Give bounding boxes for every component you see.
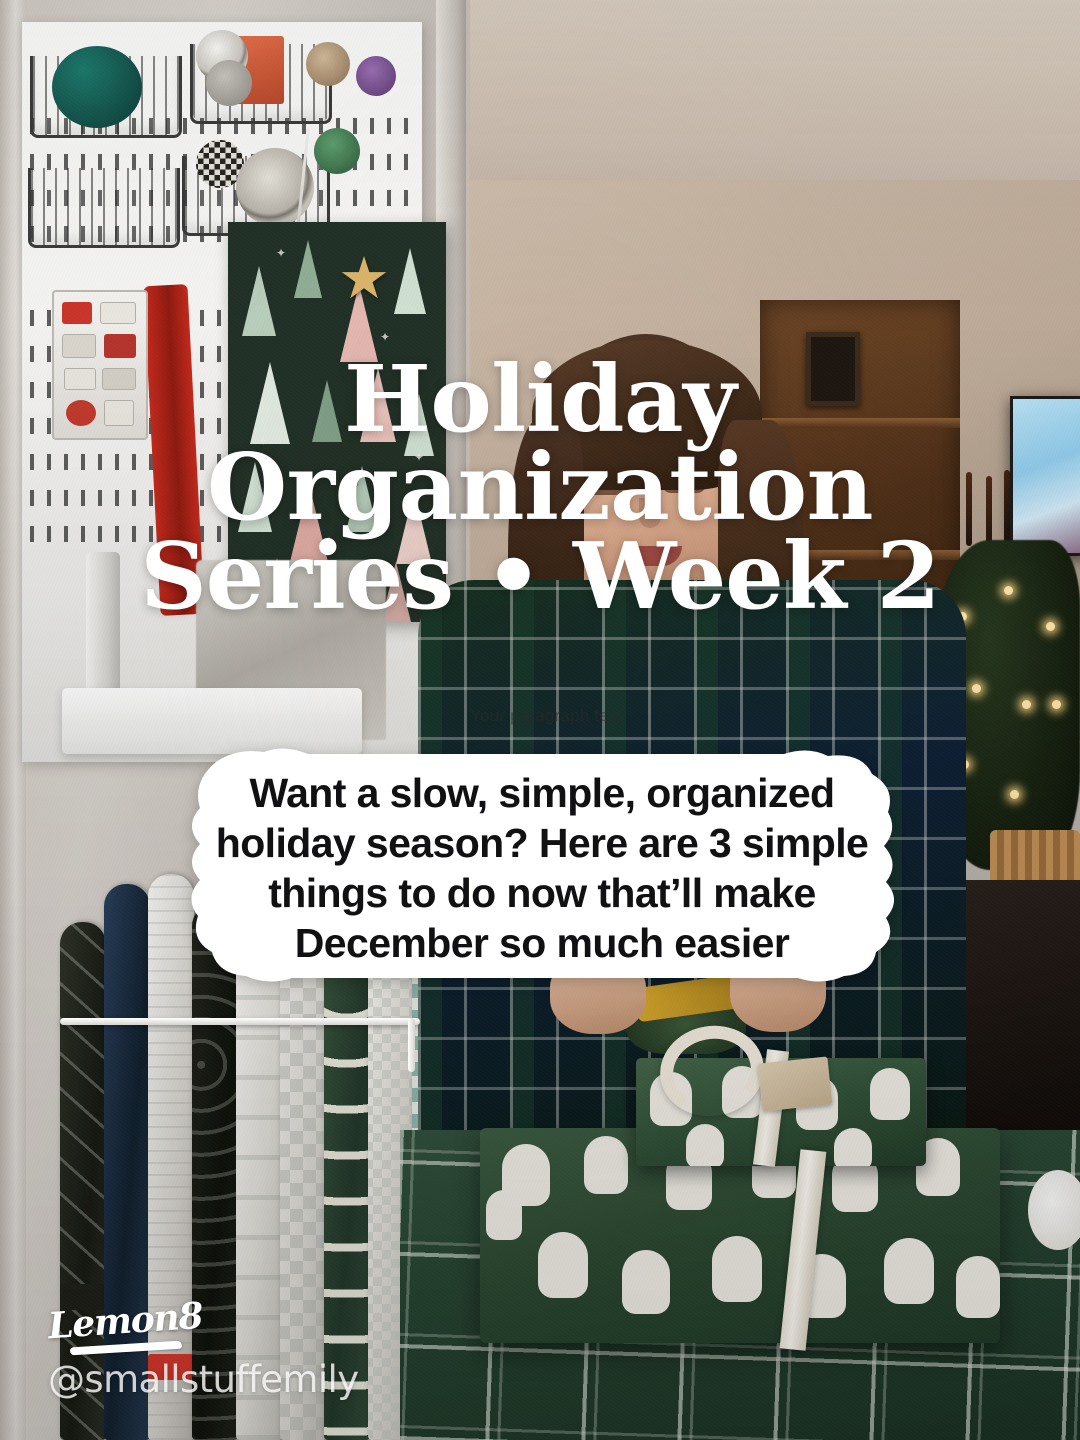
ribbon-spool-tan <box>306 42 350 86</box>
caption-line-2: holiday season? Here are 3 simple <box>188 818 896 868</box>
garland-light <box>1046 622 1055 631</box>
paper-roll-vertical <box>86 552 120 702</box>
ribbon-spool-green <box>314 128 360 174</box>
wire-paper-rack-bar <box>60 1018 420 1025</box>
roll-navy <box>104 884 150 1440</box>
caption-bubble: Want a slow, simple, organized holiday s… <box>172 748 912 984</box>
white-shelf-tray <box>62 688 362 754</box>
caption-text: Want a slow, simple, organized holiday s… <box>188 768 896 968</box>
paragraph-placeholder-text: Your paragraph text <box>470 706 650 726</box>
caption-line-3: things to do now that’ll make <box>188 868 896 918</box>
gold-star-ornament: ★ <box>338 250 398 308</box>
lemon8-post-image: ✦ ✦ ✦ ✦ ✦ ✦ ★ <box>0 0 1080 1440</box>
ribbon-spool-gray <box>206 60 252 106</box>
wire-basket-mid-left <box>28 168 180 248</box>
person-wrapping-gifts <box>404 330 964 1130</box>
roll-dark-botanical <box>60 922 106 1440</box>
caption-line-1: Want a slow, simple, organized <box>188 768 896 818</box>
television <box>1010 396 1080 556</box>
wall-hook-1 <box>966 472 972 546</box>
teal-yarn-ball <box>52 46 142 128</box>
garland-light <box>1010 790 1019 799</box>
roll-black-floral <box>192 904 238 1440</box>
garland-light <box>972 684 981 693</box>
sticker-sheet <box>52 290 148 440</box>
nose <box>639 498 661 528</box>
garland-light <box>1004 586 1013 595</box>
ribbon-spool-purple <box>356 56 396 96</box>
wire-paper-rack-end <box>408 1018 415 1072</box>
gift-tag <box>758 1056 833 1111</box>
wall-hook-2 <box>986 476 992 550</box>
garland-light <box>1052 700 1061 709</box>
white-plate <box>1028 1170 1080 1250</box>
garland-light <box>1022 700 1031 709</box>
caption-line-4: December so much easier <box>188 918 896 968</box>
